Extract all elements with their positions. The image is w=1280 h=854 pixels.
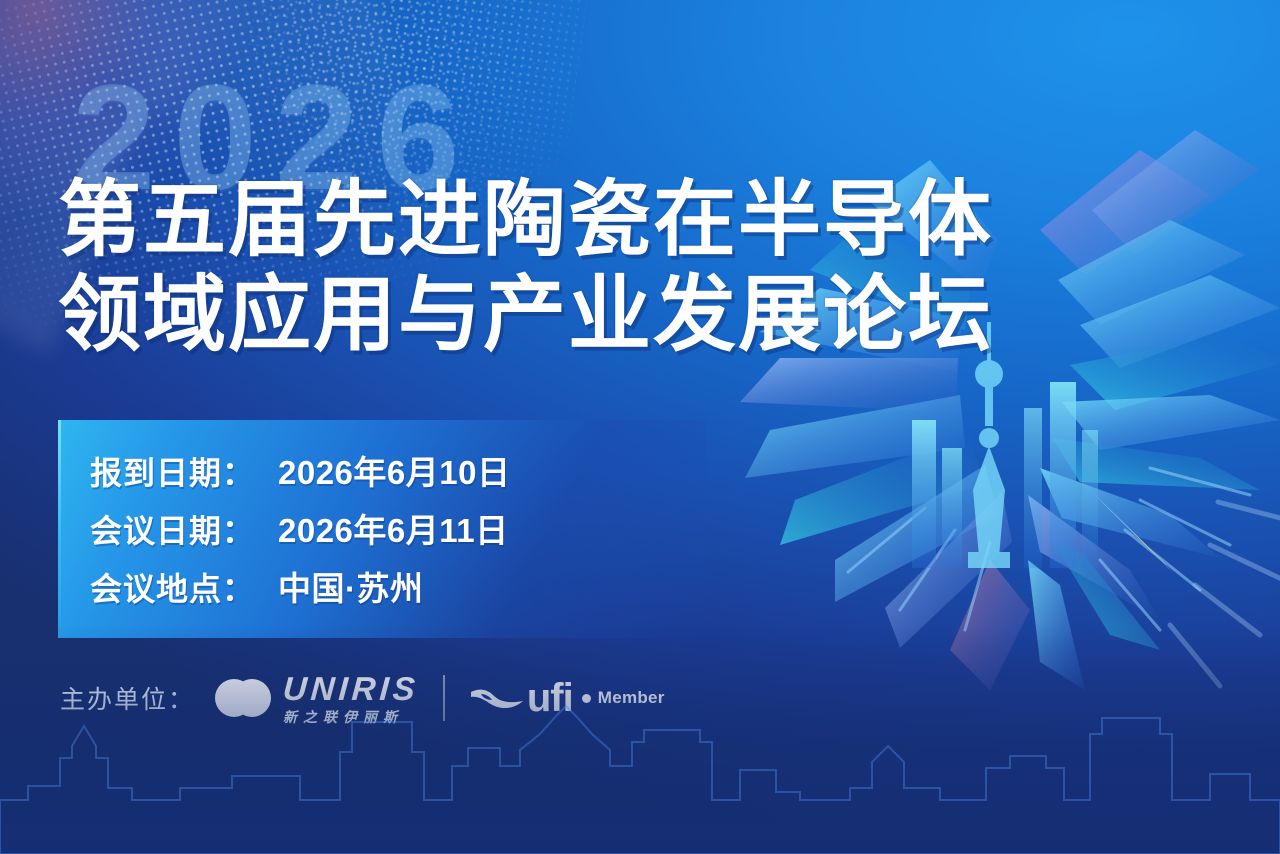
info-row-registration-date: 报到日期： 2026年6月10日 (90, 446, 510, 494)
uniris-name: UNIRIS (282, 672, 420, 705)
bottom-gradient-overlay (0, 624, 1280, 854)
venue-value: 中国·苏州 (278, 562, 424, 610)
bottom-skyline-outline (0, 704, 1280, 854)
registration-date-label: 报到日期： (90, 448, 278, 494)
conference-date-value: 2026年6月11日 (278, 504, 509, 552)
organizer-row: 主办单位： UNIRIS 新之联伊丽斯 uf (60, 672, 665, 724)
uniris-chinese-name: 新之联伊丽斯 (283, 710, 419, 724)
organizer-label: 主办单位： (60, 680, 195, 716)
venue-label: 会议地点： (90, 564, 278, 610)
ufi-name: ufi (527, 678, 573, 718)
conference-banner: 2026 (0, 0, 1280, 854)
ufi-logo: ufi Member (469, 678, 665, 718)
uniris-logo: UNIRIS 新之联伊丽斯 (213, 672, 419, 724)
ufi-bullet-icon (582, 694, 591, 703)
uniris-logo-text: UNIRIS 新之联伊丽斯 (283, 672, 419, 724)
ufi-swoosh-icon (469, 683, 525, 713)
panel-accent-edge (58, 420, 61, 638)
conference-date-label: 会议日期： (90, 506, 278, 552)
banner-title: 第五届先进陶瓷在半导体 领域应用与产业发展论坛 (58, 172, 1058, 363)
info-row-venue: 会议地点： 中国·苏州 (90, 562, 510, 610)
title-line-2: 领域应用与产业发展论坛 (58, 267, 1058, 362)
logo-divider (443, 675, 445, 721)
ufi-member-label: Member (598, 688, 665, 708)
event-info-rows: 报到日期： 2026年6月10日 会议日期： 2026年6月11日 会议地点： … (90, 446, 510, 620)
registration-date-value: 2026年6月10日 (278, 446, 510, 494)
event-info-panel: 报到日期： 2026年6月10日 会议日期： 2026年6月11日 会议地点： … (58, 420, 706, 638)
uniris-circles-icon (213, 674, 273, 722)
title-line-1: 第五届先进陶瓷在半导体 (58, 172, 1058, 267)
info-row-conference-date: 会议日期： 2026年6月11日 (90, 504, 510, 552)
